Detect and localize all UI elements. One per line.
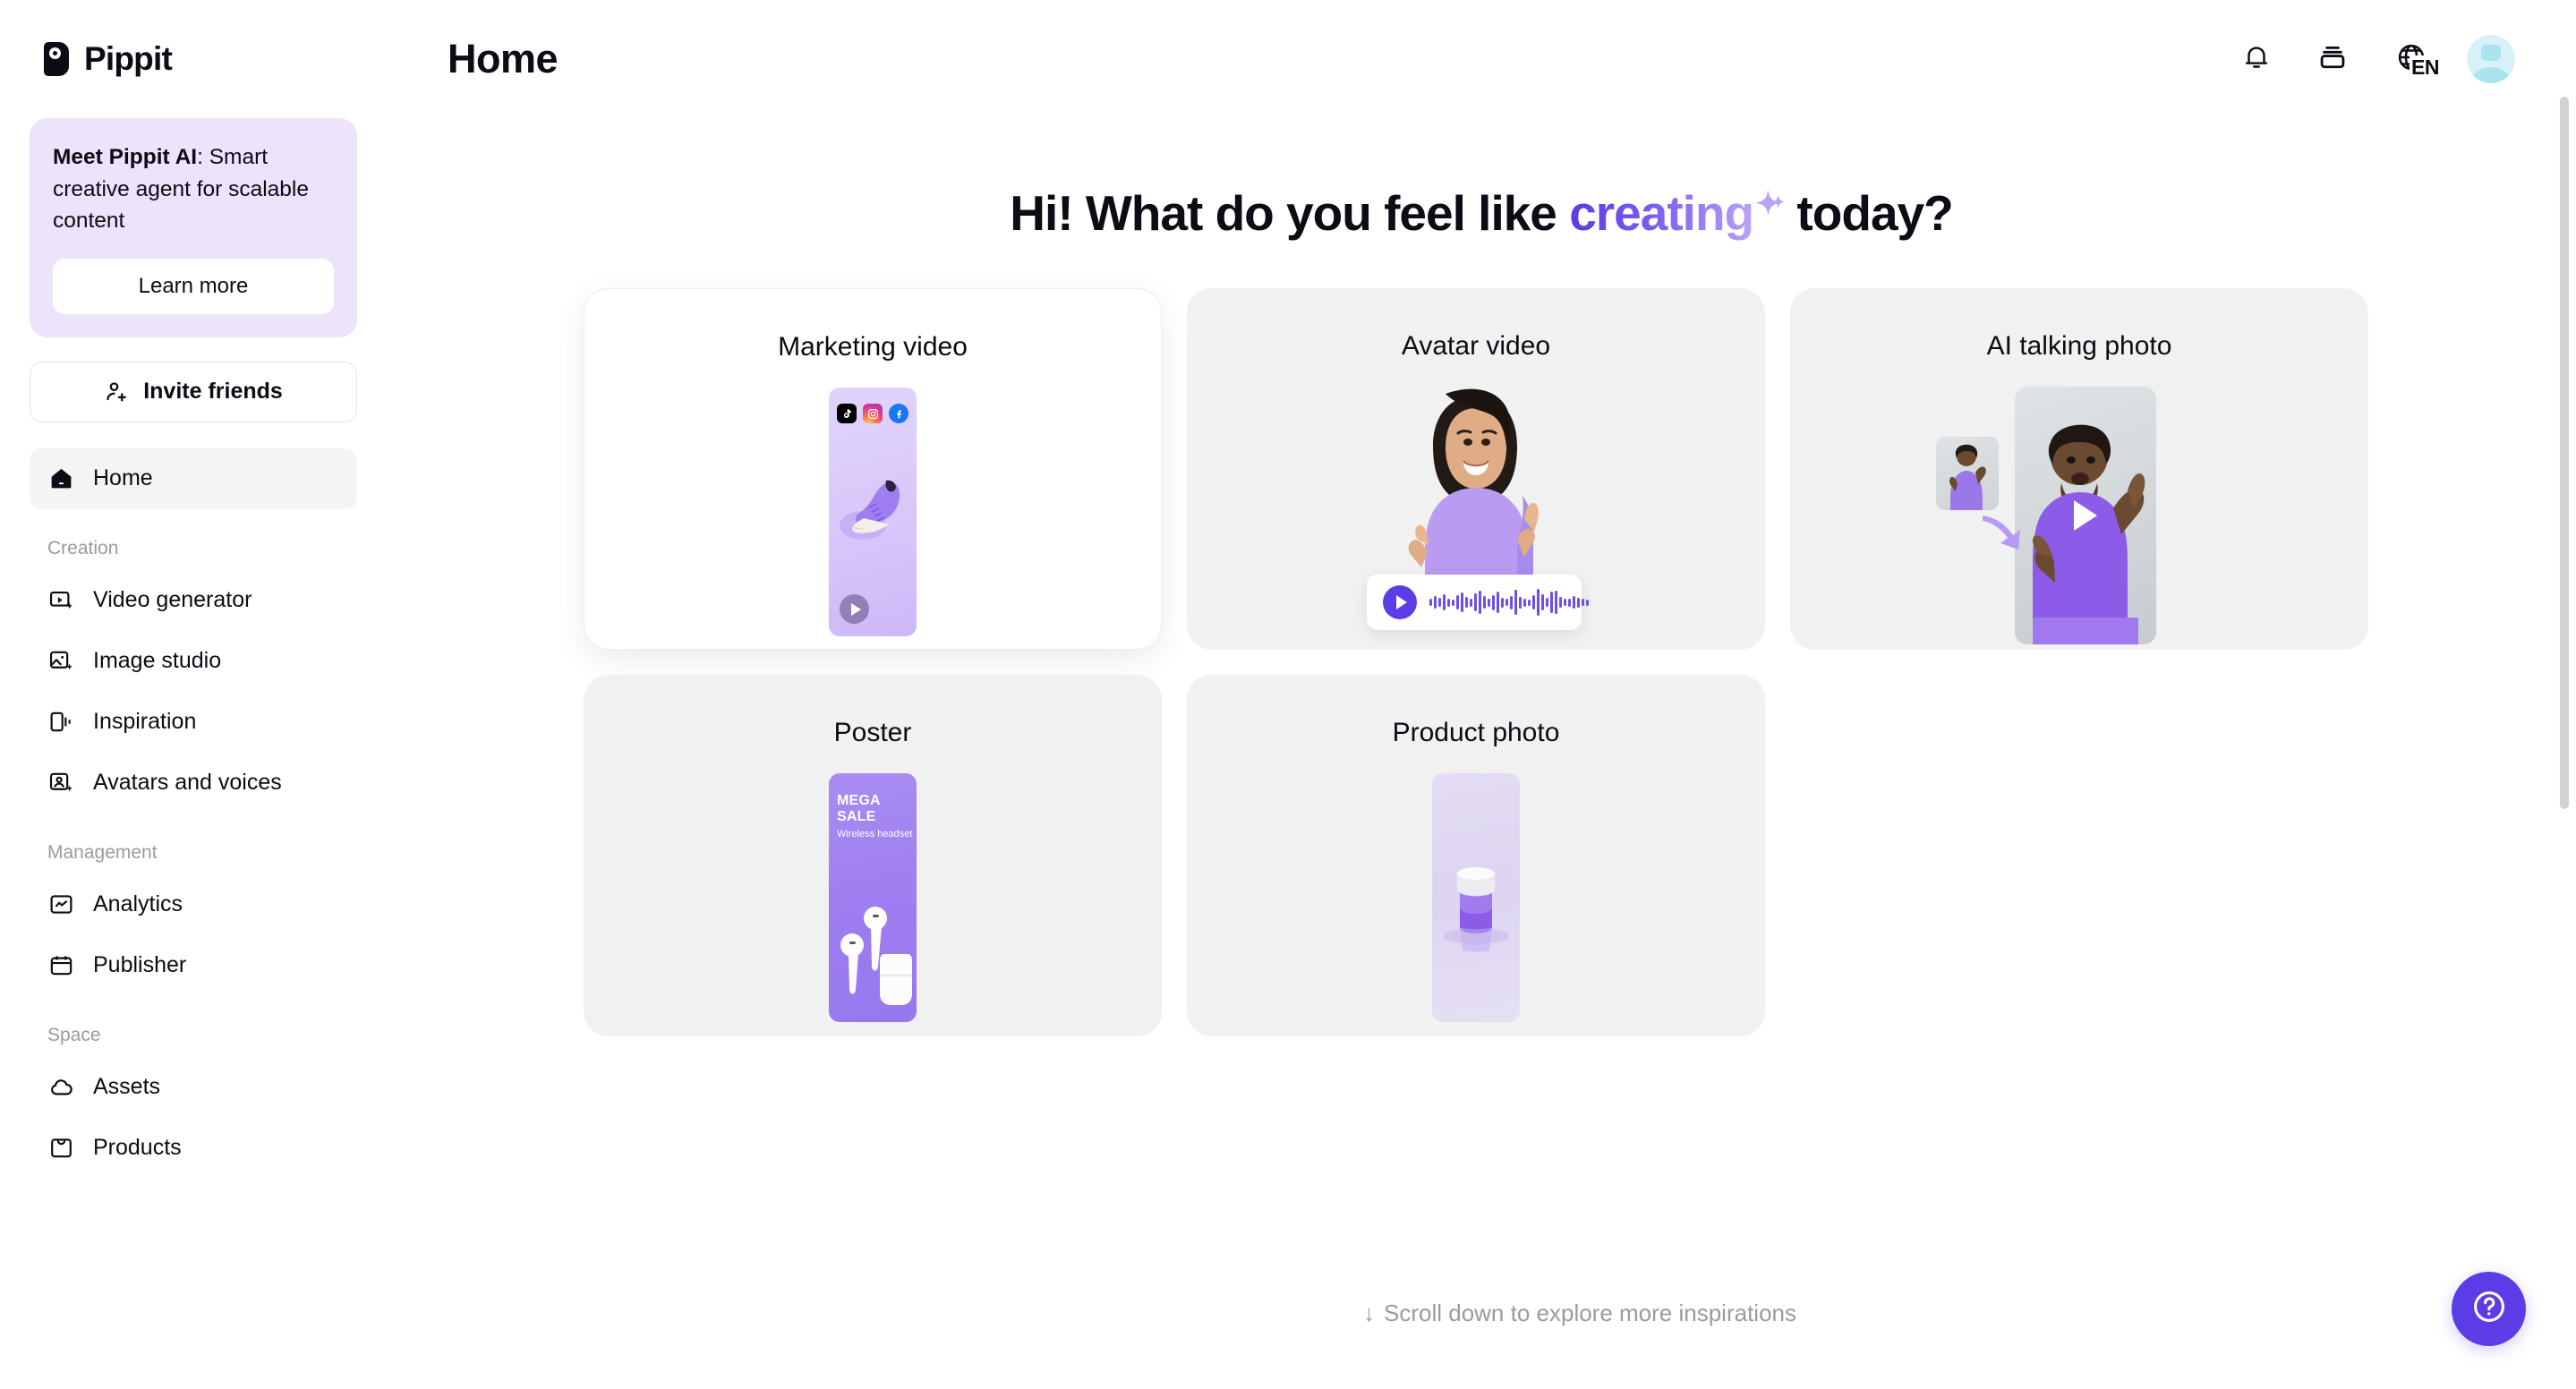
card-poster-title: Poster [584, 675, 1162, 748]
play-icon[interactable] [840, 594, 869, 624]
card-marketing-video[interactable]: Marketing video [584, 288, 1162, 650]
card-product-photo[interactable]: Product photo [1187, 675, 1765, 1036]
sidebar-item-image-studio-label: Image studio [93, 648, 221, 674]
arrow-down-icon: ↓ [1363, 1300, 1375, 1326]
facebook-icon [889, 404, 908, 423]
sidebar-item-home[interactable]: Home [30, 448, 357, 509]
notifications-button[interactable] [2233, 36, 2280, 82]
language-code: EN [2410, 55, 2439, 80]
sidebar-item-image-studio[interactable]: Image studio [30, 631, 357, 692]
tiktok-icon [837, 404, 857, 423]
poster-subline: Wireless headset [829, 825, 917, 839]
topbar-actions: EN [2233, 35, 2515, 83]
product-photo-art [1187, 773, 1765, 1036]
analytics-icon [47, 891, 74, 918]
card-product-photo-title: Product photo [1187, 675, 1765, 748]
home-icon [47, 465, 74, 492]
card-ai-talking-photo-title: AI talking photo [1790, 288, 2368, 362]
poster-headline: MEGA SALE [829, 773, 917, 825]
calendar-icon [47, 952, 74, 979]
video-sparkle-icon [47, 587, 74, 614]
main-content: Home [387, 0, 2576, 1389]
source-photo-thumbnail [1936, 437, 1999, 510]
sidebar: Pippit Meet Pippit AI: Smart creative ag… [0, 0, 387, 1389]
cloud-icon [47, 1074, 74, 1101]
invite-friends-button[interactable]: Invite friends [30, 362, 357, 422]
brand-name: Pippit [84, 40, 172, 78]
sidebar-item-products[interactable]: Products [30, 1118, 357, 1179]
transform-arrow-icon [1979, 510, 2033, 553]
result-photo [2015, 387, 2156, 644]
card-avatar-video-title: Avatar video [1187, 288, 1765, 362]
question-circle-icon [2469, 1287, 2509, 1331]
creation-card-grid: Marketing video [387, 288, 2576, 1036]
app-root: Pippit Meet Pippit AI: Smart creative ag… [0, 0, 2576, 1389]
user-avatar-icon [2481, 45, 2501, 61]
hero-before: Hi! What do you feel like [1010, 185, 1569, 241]
earbuds-image [829, 875, 917, 1018]
sidebar-item-home-label: Home [93, 465, 153, 491]
avatar-video-art [1187, 387, 1765, 650]
sidebar-item-assets-label: Assets [93, 1074, 160, 1100]
shoe-image [836, 457, 911, 558]
promo-card: Meet Pippit AI: Smart creative agent for… [30, 118, 357, 337]
pippit-logo-icon [44, 42, 73, 76]
promo-title: Meet Pippit AI: Smart creative agent for… [53, 141, 334, 237]
scroll-hint: ↓Scroll down to explore more inspiration… [387, 1300, 2576, 1327]
inspiration-icon [47, 709, 74, 736]
social-icons [837, 404, 908, 423]
sidebar-item-analytics[interactable]: Analytics [30, 874, 357, 935]
ai-talking-photo-art [1790, 387, 2368, 650]
sidebar-item-analytics-label: Analytics [93, 891, 183, 917]
image-sparkle-icon [47, 648, 74, 675]
sidebar-group-creation-title: Creation [30, 538, 357, 559]
user-plus-icon [104, 379, 131, 405]
card-stack-icon [2317, 42, 2348, 77]
waveform-icon [1429, 587, 1589, 618]
sidebar-item-assets[interactable]: Assets [30, 1057, 357, 1118]
poster-art: MEGA SALE Wireless headset [584, 773, 1162, 1036]
instagram-icon [863, 404, 883, 423]
play-icon[interactable] [2074, 500, 2097, 531]
bag-icon [47, 1135, 74, 1162]
learn-more-button[interactable]: Learn more [53, 259, 334, 314]
sidebar-item-video-generator[interactable]: Video generator [30, 570, 357, 631]
sidebar-item-publisher-label: Publisher [93, 952, 186, 978]
avatar[interactable] [2467, 35, 2515, 83]
avatar-sparkle-icon [47, 770, 74, 797]
topbar: Home [387, 0, 2576, 118]
scrollbar-track[interactable] [2560, 0, 2572, 1389]
play-icon[interactable] [1383, 585, 1417, 619]
sparkles-icon: ✦✦ [1753, 184, 1784, 224]
sidebar-item-products-label: Products [93, 1135, 182, 1161]
sidebar-item-avatars-and-voices[interactable]: Avatars and voices [30, 753, 357, 814]
card-ai-talking-photo[interactable]: AI talking photo [1790, 288, 2368, 650]
subscription-button[interactable] [2309, 36, 2356, 82]
language-button[interactable]: EN [2385, 36, 2437, 82]
marketing-video-art [584, 388, 1161, 649]
sidebar-item-inspiration[interactable]: Inspiration [30, 692, 357, 753]
bell-icon [2241, 42, 2272, 77]
scrollbar-thumb[interactable] [2560, 97, 2569, 809]
scroll-hint-label: Scroll down to explore more inspirations [1384, 1300, 1796, 1326]
invite-friends-label: Invite friends [143, 379, 283, 405]
audio-player[interactable] [1367, 575, 1582, 630]
brand-logo[interactable]: Pippit [30, 0, 357, 118]
sidebar-item-inspiration-label: Inspiration [93, 709, 196, 735]
page-title: Home [448, 36, 558, 82]
hero-highlight: creating [1569, 185, 1753, 241]
sidebar-item-publisher[interactable]: Publisher [30, 935, 357, 996]
card-avatar-video[interactable]: Avatar video [1187, 288, 1765, 650]
hero-after: today? [1784, 185, 1953, 241]
sidebar-group-space-title: Space [30, 1025, 357, 1046]
card-marketing-video-title: Marketing video [584, 289, 1161, 362]
cosmetic-jar-image [1432, 773, 1520, 1022]
help-button[interactable] [2452, 1272, 2526, 1346]
sidebar-item-avatars-and-voices-label: Avatars and voices [93, 770, 282, 796]
sidebar-item-video-generator-label: Video generator [93, 587, 252, 613]
card-poster[interactable]: Poster MEGA SALE Wireless headset [584, 675, 1162, 1036]
sidebar-group-management-title: Management [30, 842, 357, 864]
hero-heading: Hi! What do you feel like creating✦✦ tod… [387, 184, 2576, 242]
promo-title-bold: Meet Pippit AI [53, 145, 197, 169]
